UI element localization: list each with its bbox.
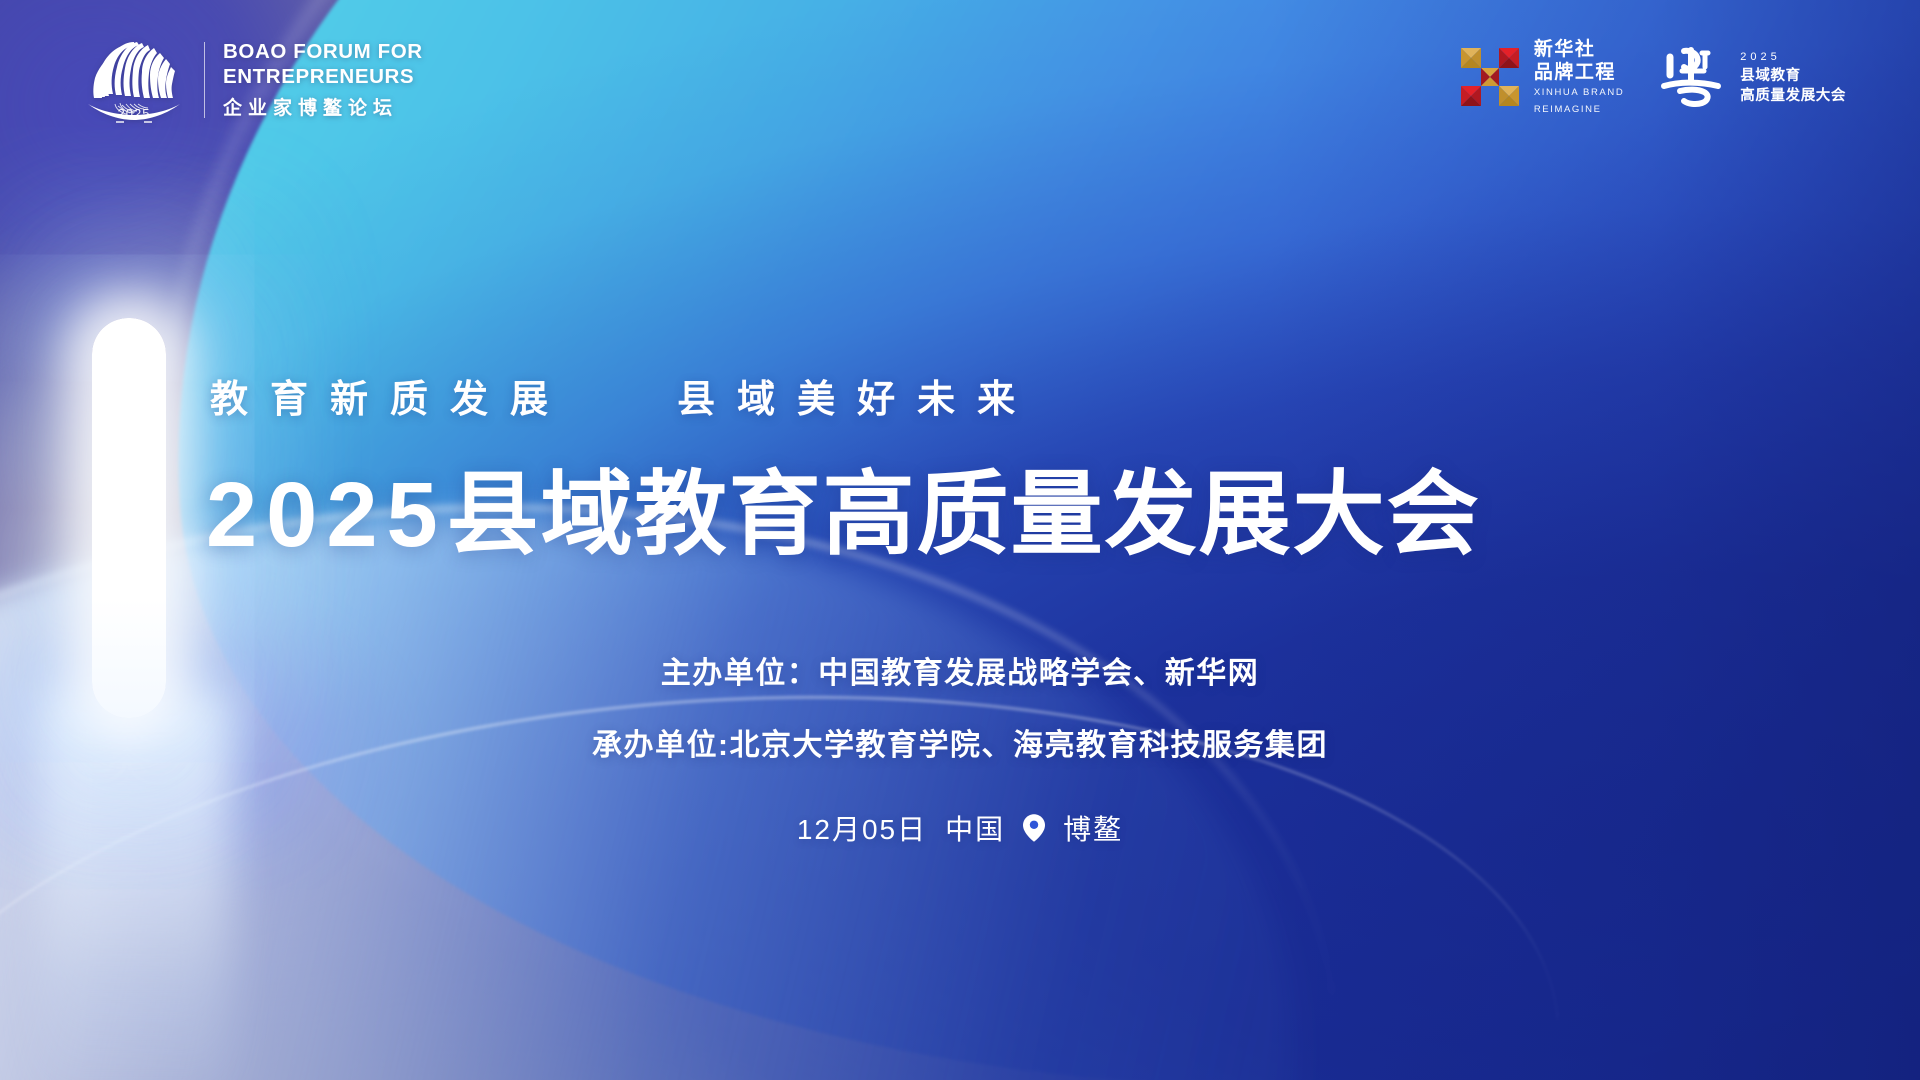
co-organizer-line: 承办单位:北京大学教育学院、海亮教育科技服务集团 [0, 720, 1920, 764]
boao-logo-year: 2025 [82, 106, 186, 121]
county-logo-text: 2025 县域教育 高质量发展大会 [1740, 49, 1846, 106]
page-title: 2025县域教育高质量发展大会 [206, 440, 1481, 573]
organizer-block: 主办单位：中国教育发展战略学会、新华网 承办单位:北京大学教育学院、海亮教育科技… [0, 648, 1920, 764]
event-tagline: 教育新质发展 县域美好未来 [210, 368, 1037, 423]
xinhua-en-line2: REIMAGINE [1534, 103, 1624, 117]
conference-poster: 2025 BOAO FORUM FOR ENTREPRENEURS 企业家博鳌论… [0, 0, 1920, 1080]
boao-logo-en-line1: BOAO FORUM FOR [223, 40, 423, 64]
title-text: 县域教育高质量发展大会 [447, 464, 1481, 566]
xinhua-en-line1: XINHUA BRAND [1534, 86, 1624, 100]
event-date: 12月05日 [797, 808, 927, 848]
host-organization-line: 主办单位：中国教育发展战略学会、新华网 [0, 648, 1920, 692]
title-year: 2025 [206, 464, 447, 566]
tagline-right: 县域美好未来 [677, 379, 1037, 421]
partner-logos: 新华社 品牌工程 XINHUA BRAND REIMAGINE [1459, 38, 1846, 117]
county-calligraphy-emblem-icon [1658, 41, 1726, 113]
county-logo-year: 2025 [1740, 49, 1846, 66]
county-education-logo: 2025 县域教育 高质量发展大会 [1658, 41, 1846, 113]
xinhua-cn-line1: 新华社 [1534, 38, 1624, 61]
tagline-left: 教育新质发展 [210, 379, 570, 421]
xinhua-brand-logo: 新华社 品牌工程 XINHUA BRAND REIMAGINE [1459, 38, 1624, 117]
event-meta: 12月05日 中国 博鳌 [0, 808, 1920, 848]
boao-forum-logo: 2025 BOAO FORUM FOR ENTREPRENEURS 企业家博鳌论… [82, 32, 423, 128]
xinhua-cn-line2: 品牌工程 [1534, 61, 1624, 84]
county-logo-cn-line1: 县域教育 [1740, 66, 1846, 86]
boao-logo-cn: 企业家博鳌论坛 [223, 93, 423, 120]
boao-shell-emblem-icon: 2025 [82, 32, 186, 128]
boao-logo-en-line2: ENTREPRENEURS [223, 65, 423, 89]
event-country: 中国 [945, 808, 1005, 848]
county-logo-cn-line2: 高质量发展大会 [1740, 86, 1846, 106]
xinhua-x-emblem-icon [1459, 46, 1521, 108]
boao-logo-divider [204, 42, 205, 118]
xinhua-logo-text: 新华社 品牌工程 XINHUA BRAND REIMAGINE [1534, 38, 1624, 117]
event-city: 博鳌 [1063, 808, 1123, 848]
location-pin-icon [1023, 814, 1045, 842]
boao-logo-text: BOAO FORUM FOR ENTREPRENEURS 企业家博鳌论坛 [223, 40, 423, 119]
